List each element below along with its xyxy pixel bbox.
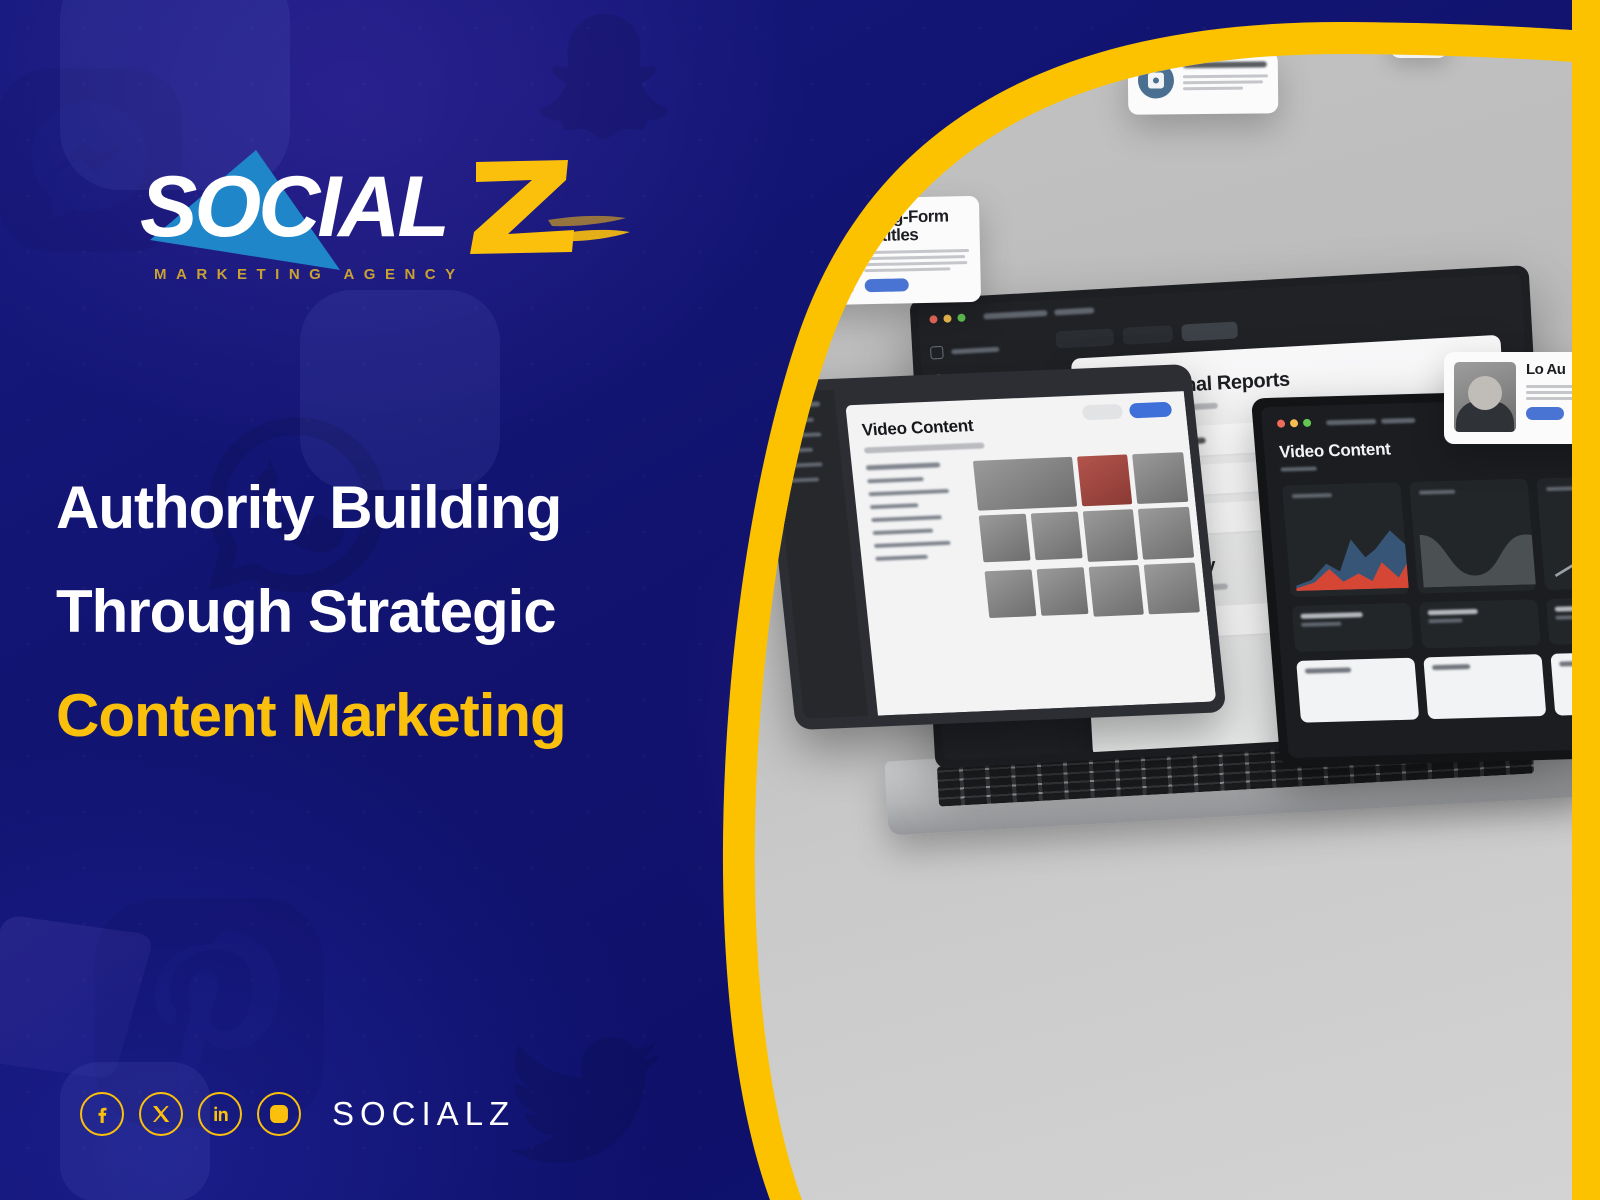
photo-thumbnail[interactable] — [1133, 452, 1189, 504]
photo-thumbnail[interactable] — [984, 569, 1036, 618]
dark-info-cards — [1292, 596, 1572, 652]
info-card — [1419, 599, 1541, 648]
area-chart-icon — [1291, 522, 1409, 591]
laptop-window-title — [983, 307, 1094, 319]
photo-thumbnail[interactable] — [1037, 567, 1089, 616]
tablet-form-fields — [866, 461, 978, 619]
card-body-text — [864, 249, 969, 272]
window-minimize-dot[interactable] — [943, 314, 951, 322]
poster-canvas: Professional Reports Consistency — [0, 0, 1600, 1200]
tablet-columns — [866, 452, 1192, 619]
info-card — [1292, 603, 1414, 652]
x-twitter-icon[interactable] — [139, 1092, 183, 1136]
headline-line-2: Through Strategic — [56, 582, 756, 642]
right-yellow-strip — [1572, 0, 1600, 1200]
tablet-photo-grid — [973, 452, 1192, 614]
card-title: Lo Au — [1526, 362, 1572, 378]
photo-thumbnail[interactable] — [1083, 510, 1139, 562]
globe-speech-bubble — [846, 38, 908, 92]
window-maximize-dot[interactable] — [1303, 419, 1312, 427]
headline-line-1: Authority Building — [56, 478, 756, 538]
wave-chart-icon — [1418, 518, 1536, 587]
tab-overview[interactable] — [1055, 328, 1114, 348]
info-card — [1546, 596, 1572, 645]
dark-light-cards — [1296, 651, 1572, 723]
tablet-main-panel: Video Content — [845, 391, 1216, 715]
window-close-dot[interactable] — [929, 315, 937, 323]
photo-thumbnail[interactable] — [1089, 565, 1145, 617]
photo-thumbnail[interactable] — [979, 514, 1031, 563]
tablet-subtitle — [864, 442, 985, 453]
card-cta-button[interactable] — [865, 279, 909, 293]
photo-thumbnail[interactable] — [1077, 454, 1133, 506]
photo-thumbnail[interactable] — [973, 457, 1077, 511]
brand-logo: SOCIAL MARKETING AGENCY — [126, 140, 646, 320]
logo-wordmark: SOCIAL — [140, 164, 447, 250]
avatar — [1454, 362, 1516, 432]
globe-icon — [863, 51, 891, 79]
card-body-text — [1526, 385, 1572, 400]
tablet-ui: Video Content — [770, 375, 1217, 718]
sidebar-dashboard-icon — [930, 346, 944, 360]
blob-photo-area: Professional Reports Consistency — [650, 0, 1572, 1200]
desk-scene: Professional Reports Consistency — [650, 0, 1572, 1200]
photo-thumbnail[interactable] — [1138, 507, 1194, 559]
linkedin-icon[interactable] — [198, 1092, 242, 1136]
photo-thumbnail[interactable] — [1144, 562, 1200, 614]
footer-brand-name: SOCIALZ — [332, 1095, 515, 1133]
dark-chart-cards — [1282, 475, 1572, 597]
line-chart-icon — [1546, 514, 1572, 583]
card-cta-button[interactable] — [1526, 407, 1564, 420]
notification-body — [1183, 74, 1268, 90]
dark-dashboard-ui: Video Content — [1261, 396, 1572, 758]
light-card — [1296, 658, 1419, 723]
light-card — [1550, 651, 1572, 716]
headline-block: Authority Building Through Strategic Con… — [56, 478, 756, 746]
window-maximize-dot[interactable] — [957, 314, 965, 322]
light-card — [1423, 654, 1546, 719]
wave-chart-card — [1409, 479, 1536, 594]
cancel-button[interactable] — [1082, 404, 1124, 421]
headline-line-3: Content Marketing — [56, 686, 756, 746]
logo-z-brushstroke — [462, 148, 642, 278]
tab-reports[interactable] — [1122, 325, 1173, 345]
window-minimize-dot[interactable] — [1290, 419, 1299, 427]
facebook-icon[interactable] — [80, 1092, 124, 1136]
line-chart-card — [1536, 475, 1572, 590]
photo-thumbnail[interactable] — [1031, 512, 1083, 561]
window-close-dot[interactable] — [1277, 420, 1286, 428]
instagram-icon[interactable] — [257, 1092, 301, 1136]
profile-card-right: Lo Au — [1444, 352, 1572, 444]
logo-tagline: MARKETING AGENCY — [154, 266, 465, 283]
hero-image-blob: Professional Reports Consistency — [650, 0, 1572, 1200]
save-button[interactable] — [1129, 402, 1173, 419]
area-chart-card — [1282, 482, 1409, 597]
footer-social-bar: SOCIALZ — [80, 1092, 515, 1136]
tab-active[interactable] — [1181, 321, 1238, 341]
tablet-device-light: Video Content — [759, 364, 1226, 730]
sidebar-item[interactable] — [930, 341, 1033, 360]
